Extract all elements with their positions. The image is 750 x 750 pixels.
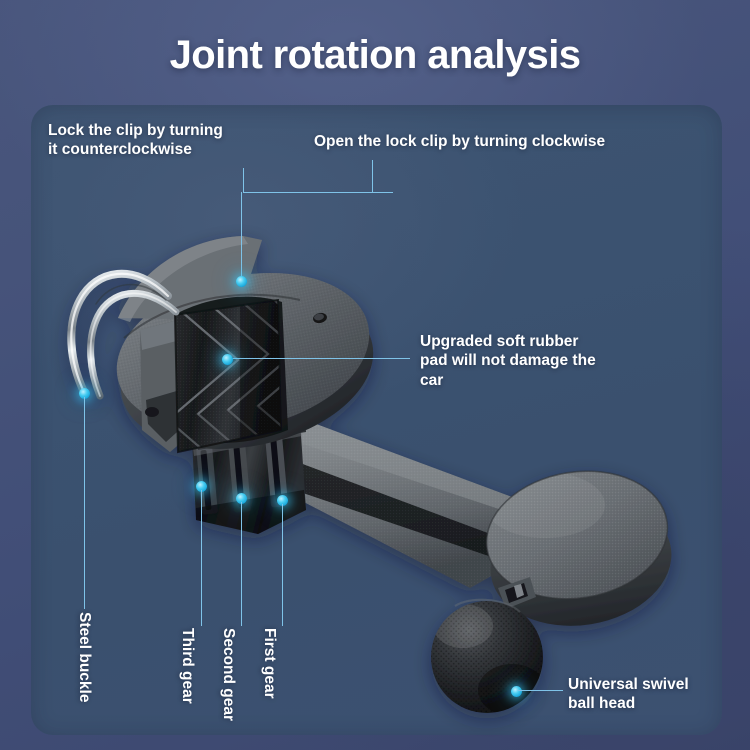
marker-clamp-disc [236,276,247,287]
page-title: Joint rotation analysis [0,33,750,78]
infographic-canvas: Joint rotation analysis [0,0,750,750]
callout-steel-buckle: Steel buckle [75,612,93,702]
leader-first-gear [282,504,283,626]
leader-clamp-drop [241,192,242,278]
callout-open-clip: Open the lock clip by turning clockwise [314,132,674,151]
marker-rubber-pad [222,354,233,365]
leader-open-stub [372,160,373,193]
leader-ball-head [518,690,563,691]
callout-rubber-pad: Upgraded soft rubber pad will not damage… [420,332,635,390]
leader-rubber-pad [228,358,410,359]
leader-lock-stub [243,168,244,193]
content-panel [31,105,722,735]
leader-third-gear [201,490,202,626]
callout-ball-head: Universal swivel ball head [568,675,728,714]
callout-second-gear: Second gear [219,628,237,721]
leader-steel-buckle [84,397,85,609]
callout-third-gear: Third gear [178,628,196,704]
callout-lock-clip: Lock the clip by turning it counterclock… [48,121,263,160]
leader-top-bracket [243,192,393,193]
leader-second-gear [241,502,242,626]
callout-first-gear: First gear [260,628,278,699]
